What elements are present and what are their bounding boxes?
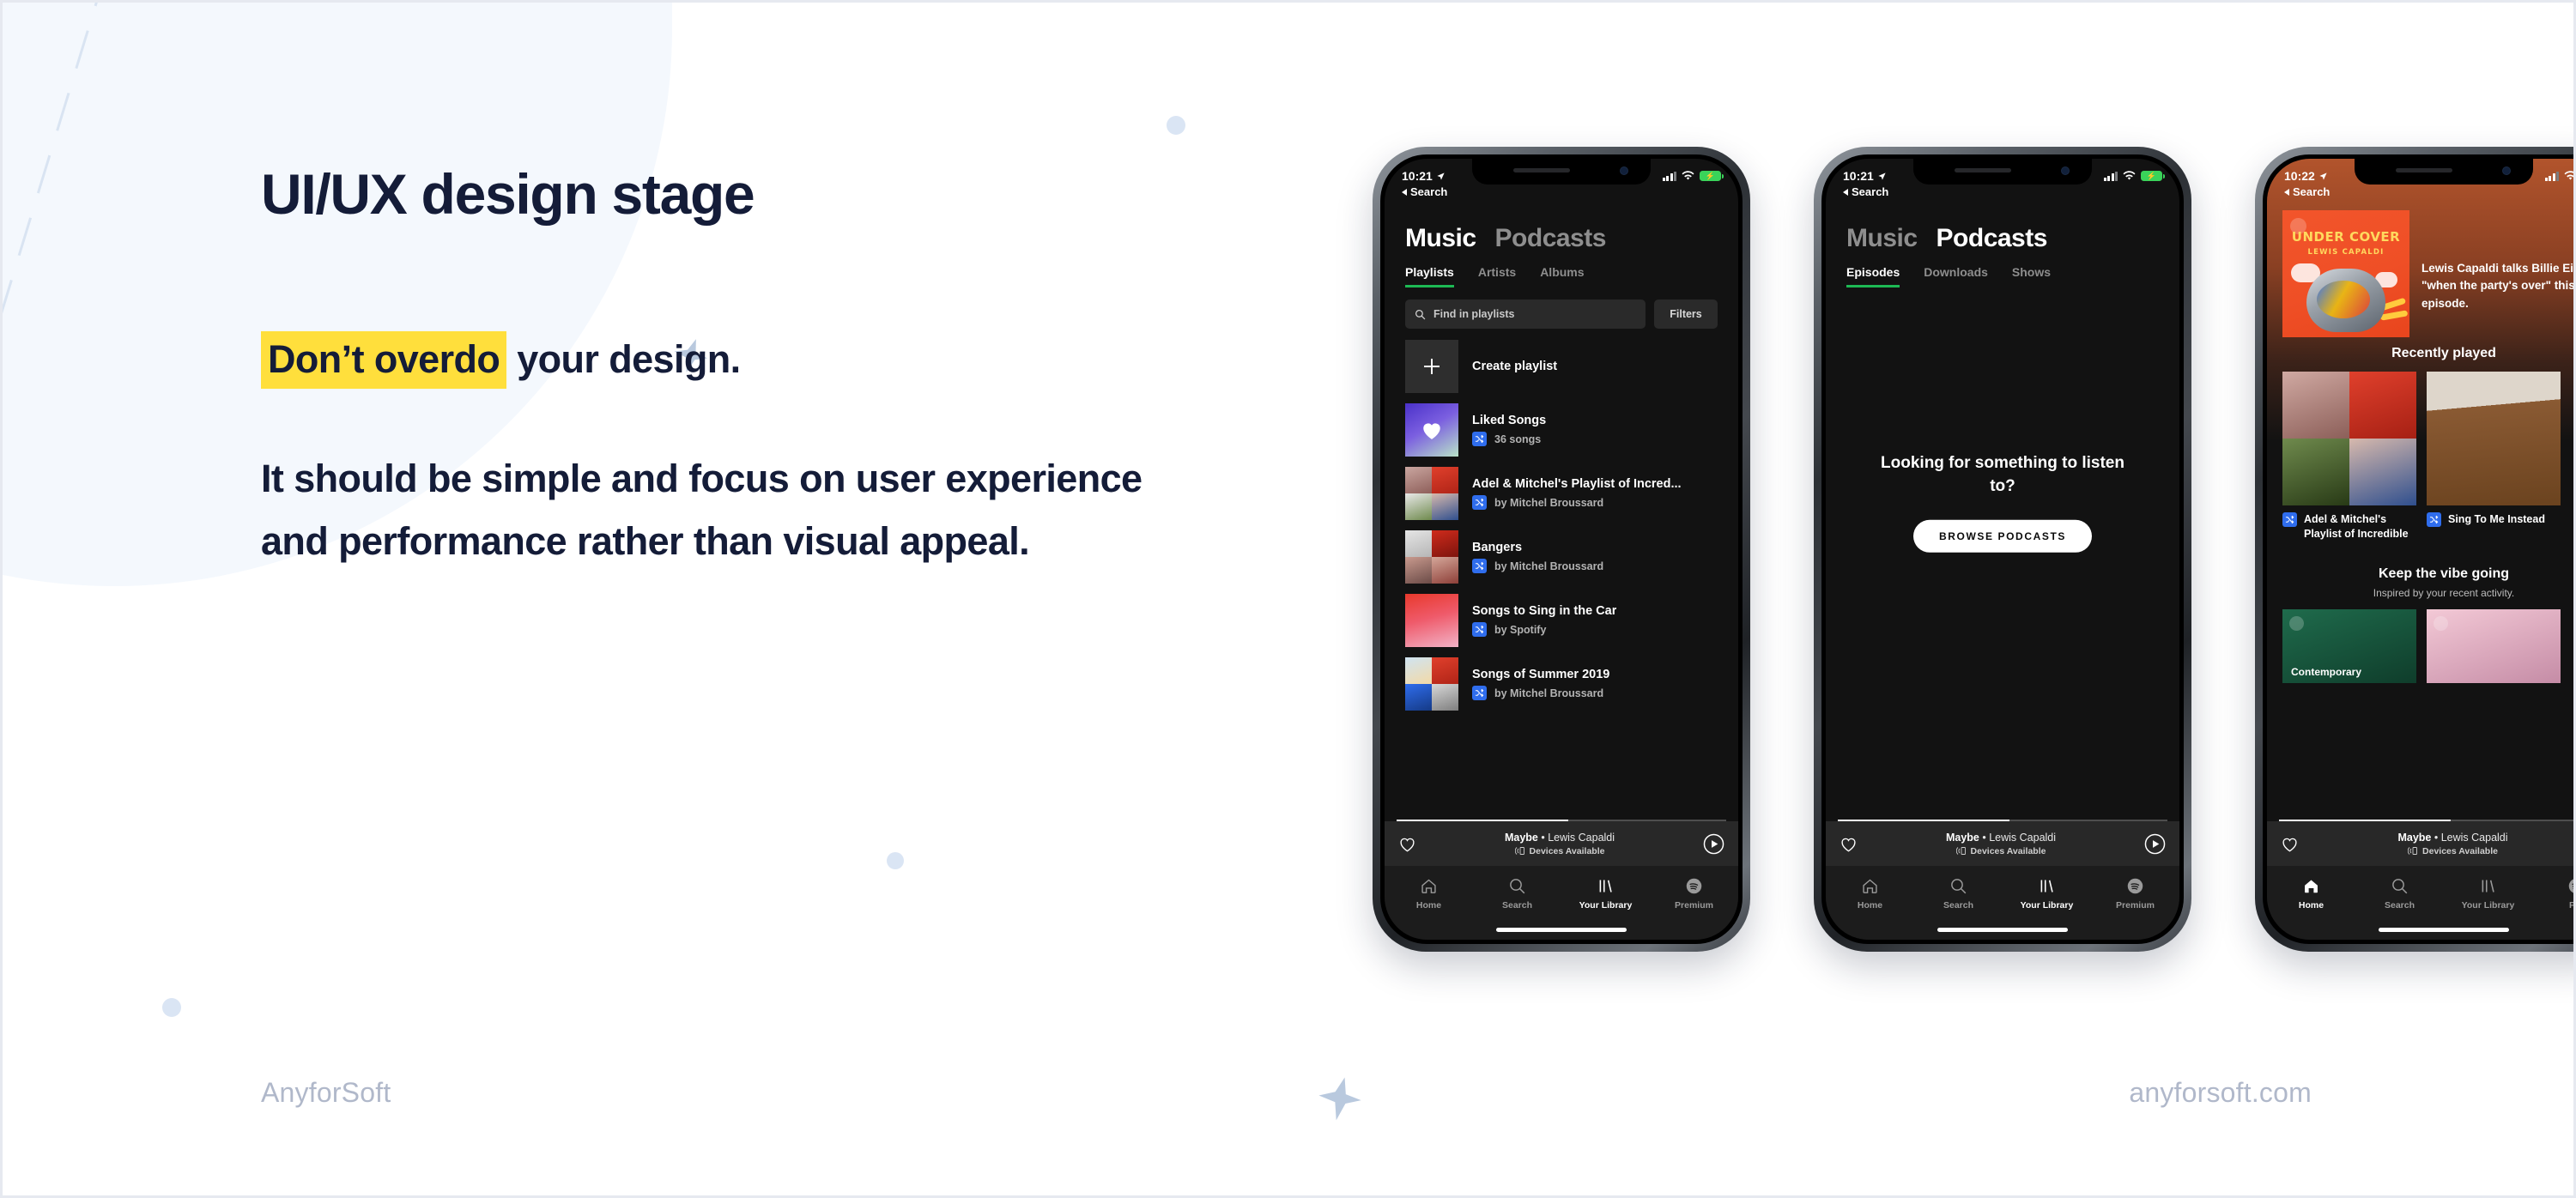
list-item-title: Liked Songs: [1472, 414, 1546, 427]
status-time: 10:21: [1402, 169, 1433, 183]
dashed-line-decoration: [0, 0, 108, 707]
devices-label: Devices Available: [2422, 846, 2498, 856]
star-icon: [1308, 1068, 1369, 1128]
cover-title: UNDER COVER: [2282, 229, 2409, 245]
earpiece-speaker: [1513, 168, 1570, 172]
back-label: Search: [2293, 185, 2330, 198]
phone-bezel: 10:22 ⚡ Search: [2263, 154, 2576, 944]
card-artwork: [2427, 372, 2561, 505]
playlist-cover: [1405, 467, 1458, 520]
phone-bezel: 10:21 ⚡ Search Music P: [1821, 154, 2184, 944]
now-playing-bar[interactable]: Maybe • Lewis Capaldi Devices Available: [1826, 821, 2179, 866]
search-icon: [1473, 875, 1561, 896]
notch: [2355, 159, 2533, 185]
card-artwork: [2282, 372, 2416, 505]
list-item-title: Create playlist: [1472, 360, 1557, 373]
battery-icon: ⚡: [2141, 171, 2162, 181]
tab-label: Home: [2267, 900, 2355, 911]
track-name: Maybe: [2397, 832, 2431, 844]
subtab-bar: Episodes Downloads Shows: [1826, 253, 2179, 287]
spotify-dot: [2434, 616, 2448, 631]
location-arrow-icon: [1436, 172, 1446, 181]
track-name: Maybe: [1505, 832, 1538, 844]
shuffle-badge-icon: [1472, 686, 1487, 700]
cover-artist: LEWIS CAPALDI: [2282, 248, 2409, 257]
list-item[interactable]: Songs to Sing in the Car by Spotify: [1405, 594, 1718, 647]
tab-label: Search: [1914, 900, 2003, 911]
devices-label: Devices Available: [1530, 846, 1605, 856]
segment-titles: Music Podcasts: [1826, 207, 2179, 253]
section-subtitle-keep-the-vibe: Inspired by your recent activity.: [2267, 587, 2576, 599]
section-title-recently-played: Recently played: [2267, 346, 2576, 361]
playback-progress: [1397, 820, 1726, 821]
shuffle-badge-icon: [1472, 622, 1487, 637]
lede-rest: your design.: [506, 337, 740, 381]
shuffle-badge-icon: [1472, 432, 1487, 446]
artist-name: Lewis Capaldi: [1548, 832, 1615, 844]
segment-music[interactable]: Music: [1405, 224, 1476, 253]
liked-songs-cover: [1405, 403, 1458, 457]
list-item[interactable]: Songs of Summer 2019 by Mitchel Broussar…: [1405, 657, 1718, 711]
home-icon: [1826, 875, 1914, 896]
list-item-title: Bangers: [1472, 541, 1603, 554]
page-title: UI/UX design stage: [261, 162, 1188, 227]
search-row: Find in playlists Filters: [1385, 287, 1738, 329]
vibe-card-label: Contemporary: [2291, 666, 2361, 678]
home-icon: [1385, 875, 1473, 896]
play-button[interactable]: [1703, 833, 1724, 855]
home-indicator: [2379, 928, 2509, 932]
phone-mockup-home: 10:22 ⚡ Search: [2255, 147, 2576, 952]
cellular-signal-icon: [2545, 172, 2560, 181]
tab-label: Your Library: [2003, 900, 2091, 911]
decor-dot: [887, 852, 904, 869]
recently-played-row: Adel & Mitchel's Playlist of Incredible …: [2267, 361, 2576, 541]
battery-icon: ⚡: [1700, 171, 1721, 181]
cellular-signal-icon: [2104, 172, 2118, 181]
notch: [1913, 159, 2092, 185]
front-camera-icon: [2502, 166, 2511, 175]
tab-label: Premium: [1650, 900, 1738, 911]
tab-home[interactable]: Home: [1826, 875, 1914, 911]
earpiece-speaker: [2396, 168, 2452, 172]
back-arrow-icon: [2284, 189, 2289, 196]
slide-canvas: UI/UX design stage Don’t overdo your des…: [0, 0, 2576, 1198]
recently-played-card[interactable]: Sing To Me Instead: [2427, 372, 2561, 541]
subtab-episodes[interactable]: Episodes: [1846, 265, 1900, 287]
tab-premium[interactable]: Premium: [2091, 875, 2179, 911]
phone-screen: 10:21 ⚡ Search Music: [1385, 159, 1738, 940]
home-indicator: [1496, 928, 1627, 932]
vibe-row: Contemporary: [2267, 599, 2576, 683]
subtab-playlists[interactable]: Playlists: [1405, 265, 1454, 287]
shuffle-badge-icon: [1472, 495, 1487, 510]
back-label: Search: [1410, 185, 1447, 198]
segment-music[interactable]: Music: [1846, 224, 1918, 253]
vibe-card[interactable]: [2427, 609, 2561, 683]
home-indicator: [1937, 928, 2068, 932]
search-input[interactable]: Find in playlists: [1405, 299, 1646, 329]
tab-search[interactable]: Search: [1914, 875, 2003, 911]
tab-search[interactable]: Search: [1473, 875, 1561, 911]
tab-your-library[interactable]: Your Library: [2003, 875, 2091, 911]
vibe-card[interactable]: Contemporary: [2282, 609, 2416, 683]
browse-podcasts-button[interactable]: BROWSE PODCASTS: [1913, 520, 2092, 553]
play-button[interactable]: [2144, 833, 2166, 855]
tab-label: Your Library: [1561, 900, 1650, 911]
status-time: 10:21: [1843, 169, 1874, 183]
devices-label: Devices Available: [1971, 846, 2046, 856]
phone-mockup-library-podcasts: 10:21 ⚡ Search Music P: [1814, 147, 2191, 952]
footer-website: anyforsoft.com: [2129, 1077, 2312, 1109]
tab-label: Pre: [2532, 900, 2576, 911]
filters-button[interactable]: Filters: [1654, 299, 1718, 329]
playback-progress: [2279, 820, 2576, 821]
status-right: ⚡: [1663, 171, 1722, 181]
search-placeholder: Find in playlists: [1433, 308, 1514, 320]
tab-search[interactable]: Search: [2355, 875, 2444, 911]
phone-screen: 10:22 ⚡ Search: [2267, 159, 2576, 940]
tab-label: Home: [1826, 900, 1914, 911]
body-paragraph: It should be simple and focus on user ex…: [261, 448, 1171, 573]
paint-blob-shape: [2317, 281, 2370, 318]
background-blob-top: [0, 0, 672, 37]
now-playing-text: Maybe • Lewis Capaldi: [1858, 832, 2144, 844]
back-to-search-link[interactable]: Search: [2284, 185, 2330, 198]
featured-episode-description: Lewis Capaldi talks Billie Eilish's "whe…: [2421, 210, 2576, 337]
list-item-title: Songs to Sing in the Car: [1472, 604, 1616, 618]
copy-column: UI/UX design stage Don’t overdo your des…: [261, 162, 1188, 572]
earpiece-speaker: [1955, 168, 2011, 172]
notch: [1472, 159, 1651, 185]
phone-bezel: 10:21 ⚡ Search Music: [1380, 154, 1743, 944]
spotify-icon: [1650, 875, 1738, 896]
library-icon: [2444, 875, 2532, 896]
devices-icon: [1515, 846, 1525, 856]
back-to-search-link[interactable]: Search: [1402, 185, 1447, 198]
list-item-subtitle: by Mitchel Broussard: [1494, 687, 1603, 699]
decor-dot: [162, 998, 181, 1017]
location-arrow-icon: [1877, 172, 1887, 181]
tab-label: Search: [2355, 900, 2444, 911]
devices-icon: [1956, 846, 1967, 856]
list-item-subtitle: by Spotify: [1494, 624, 1546, 636]
front-camera-icon: [1620, 166, 1628, 175]
now-playing-text: Maybe • Lewis Capaldi: [2299, 832, 2576, 844]
decor-dot: [1167, 116, 1185, 135]
wifi-icon: [2123, 171, 2136, 181]
cellular-signal-icon: [1663, 172, 1677, 181]
spotify-dot: [2289, 616, 2304, 631]
home-icon: [2267, 875, 2355, 896]
subtab-downloads[interactable]: Downloads: [1924, 265, 1988, 287]
list-item-subtitle: by Mitchel Broussard: [1494, 560, 1603, 572]
playlist-cover: [1405, 657, 1458, 711]
highlighted-phrase: Don’t overdo: [261, 331, 506, 389]
tab-premium[interactable]: Premium: [1650, 875, 1738, 911]
tab-label: Premium: [2091, 900, 2179, 911]
segment-podcasts[interactable]: Podcasts: [1937, 224, 2047, 253]
library-icon: [1561, 875, 1650, 896]
list-item-title: Adel & Mitchel's Playlist of Incred...: [1472, 477, 1682, 491]
heart-outline-icon[interactable]: [1840, 836, 1858, 852]
subtab-shows[interactable]: Shows: [2012, 265, 2051, 287]
back-arrow-icon: [1843, 189, 1848, 196]
wifi-icon: [2564, 171, 2576, 181]
list-item-create-playlist[interactable]: Create playlist: [1405, 340, 1718, 393]
recently-played-card[interactable]: Adel & Mitchel's Playlist of Incredible: [2282, 372, 2416, 541]
now-playing-bar[interactable]: Maybe • Lewis Capaldi Devices Available: [1385, 821, 1738, 866]
artist-name: Lewis Capaldi: [1989, 832, 2056, 844]
shuffle-badge-icon: [1472, 559, 1487, 573]
heart-icon: [1421, 420, 1443, 440]
list-item-subtitle: 36 songs: [1494, 433, 1541, 445]
tab-your-library[interactable]: Your Library: [1561, 875, 1650, 911]
heart-outline-icon[interactable]: [1398, 836, 1416, 852]
location-arrow-icon: [2318, 172, 2328, 181]
shuffle-badge-icon: [2282, 512, 2297, 527]
search-icon: [1914, 875, 2003, 896]
playlist-cover: [1405, 594, 1458, 647]
phone-screen: 10:21 ⚡ Search Music P: [1826, 159, 2179, 940]
library-icon: [2003, 875, 2091, 896]
devices-icon: [2408, 846, 2418, 856]
podcast-cover-art: UNDER COVER LEWIS CAPALDI: [2282, 210, 2409, 337]
status-time: 10:22: [2284, 169, 2315, 183]
list-item[interactable]: Liked Songs 36 songs: [1405, 403, 1718, 457]
tab-your-library[interactable]: Your Library: [2444, 875, 2532, 911]
playlist-list: Create playlist Liked Songs: [1385, 329, 1738, 711]
track-name: Maybe: [1946, 832, 1979, 844]
wifi-icon: [1682, 171, 1694, 181]
search-icon: [1415, 309, 1426, 320]
card-label: Sing To Me Instead: [2448, 512, 2545, 527]
back-arrow-icon: [1402, 189, 1407, 196]
now-playing-text: Maybe • Lewis Capaldi: [1416, 832, 1703, 844]
tab-label: Your Library: [2444, 900, 2532, 911]
subtab-artists[interactable]: Artists: [1478, 265, 1516, 287]
artist-name: Lewis Capaldi: [2441, 832, 2508, 844]
empty-state: Looking for something to listen to? BROW…: [1826, 452, 2179, 552]
list-item-subtitle: by Mitchel Broussard: [1494, 497, 1603, 509]
status-left: 10:21: [1402, 169, 1446, 183]
segment-podcasts[interactable]: Podcasts: [1495, 224, 1606, 253]
spotify-icon: [2091, 875, 2179, 896]
heart-outline-icon[interactable]: [2281, 836, 2299, 852]
empty-state-title: Looking for something to listen to?: [1874, 452, 2131, 497]
playback-progress: [1838, 820, 2167, 821]
tab-home[interactable]: Home: [1385, 875, 1473, 911]
tab-home[interactable]: Home: [2267, 875, 2355, 911]
subtab-albums[interactable]: Albums: [1540, 265, 1584, 287]
plus-icon: [1405, 340, 1458, 393]
section-title-keep-the-vibe: Keep the vibe going: [2267, 566, 2576, 582]
list-item[interactable]: Adel & Mitchel's Playlist of Incred... b…: [1405, 467, 1718, 520]
front-camera-icon: [2061, 166, 2070, 175]
shuffle-badge-icon: [2427, 512, 2441, 527]
tab-label: Search: [1473, 900, 1561, 911]
list-item-title: Songs of Summer 2019: [1472, 668, 1609, 681]
phone-mockup-library-music: 10:21 ⚡ Search Music: [1373, 147, 1750, 952]
spotify-icon: [2532, 875, 2576, 896]
card-label: Adel & Mitchel's Playlist of Incredible: [2304, 512, 2416, 541]
back-label: Search: [1852, 185, 1888, 198]
back-to-search-link[interactable]: Search: [1843, 185, 1888, 198]
subtab-bar: Playlists Artists Albums: [1385, 253, 1738, 287]
tab-premium[interactable]: Pre: [2532, 875, 2576, 911]
now-playing-bar[interactable]: Maybe • Lewis Capaldi Devices Available: [2267, 821, 2576, 866]
list-item[interactable]: Bangers by Mitchel Broussard: [1405, 530, 1718, 584]
tab-label: Home: [1385, 900, 1473, 911]
playlist-cover: [1405, 530, 1458, 584]
lede-line: Don’t overdo your design.: [261, 334, 1188, 386]
segment-titles: Music Podcasts: [1385, 207, 1738, 253]
footer-brand: AnyforSoft: [261, 1077, 391, 1109]
ray-shape: [2380, 310, 2409, 320]
search-icon: [2355, 875, 2444, 896]
